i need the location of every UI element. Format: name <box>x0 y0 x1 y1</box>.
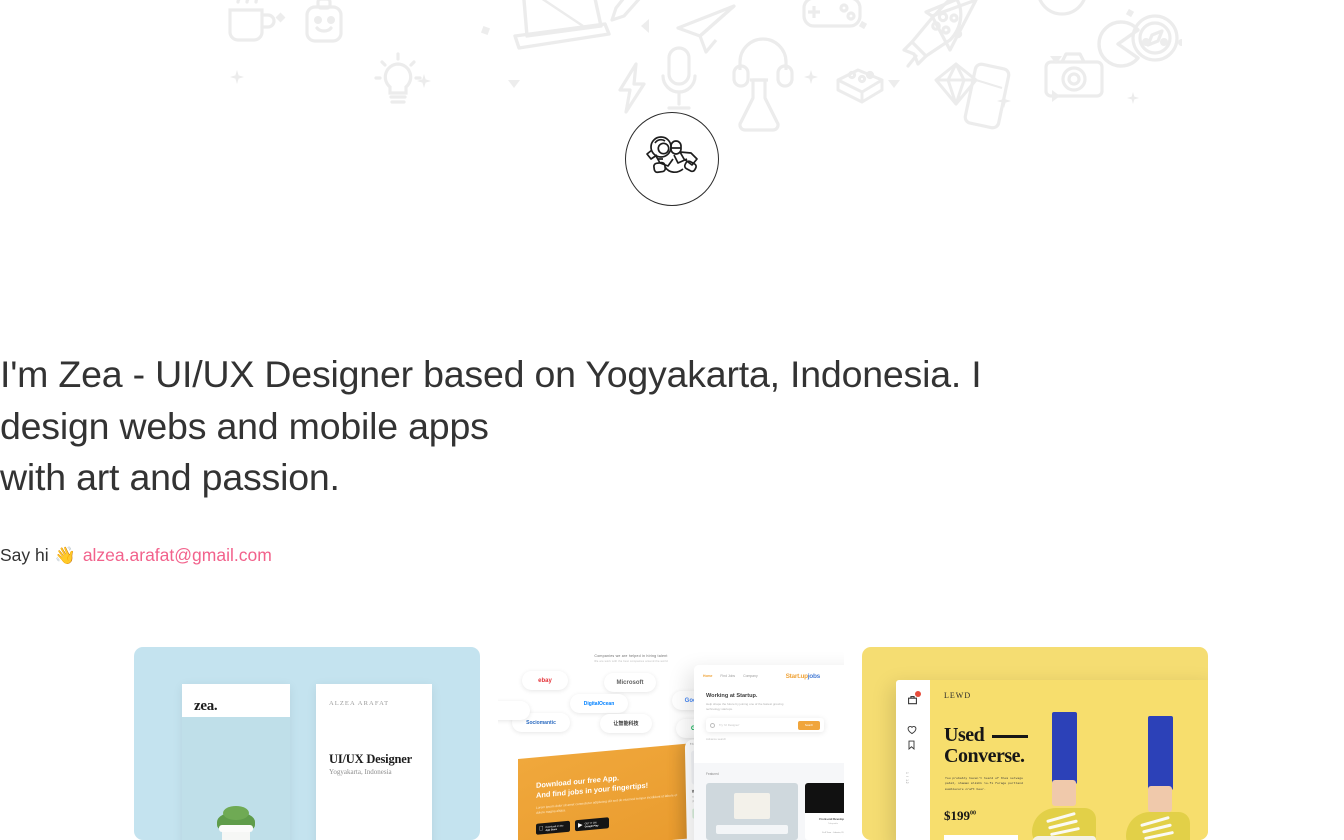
decor-triangle-icon <box>1052 90 1060 102</box>
waving-hand-icon: 👋 <box>55 547 76 564</box>
business-card-location: Yogyakarta, Indonesia <box>329 768 392 776</box>
gamepad-icon <box>800 0 874 42</box>
project-card-startupjobs[interactable]: Companies we are helped in hiring talent… <box>498 647 844 840</box>
compass-icon <box>1127 10 1182 66</box>
converse-content: LEWD Used Converse. You probably haven't… <box>930 680 1208 840</box>
lego-head-icon <box>299 0 349 47</box>
side-rail: 1 / 12 <box>896 680 930 840</box>
slide-counter: 1 / 12 <box>905 772 909 784</box>
converse-description: You probably haven't heard of them selva… <box>945 776 1029 792</box>
pacman-dot-icon <box>1160 38 1168 46</box>
business-card-back: ALZEA ARAFAT UI/UX Designer Yogyakarta, … <box>316 684 432 840</box>
project-card-business-card[interactable]: zea. ALZEA ARAFAT UI/UX Designer Yogyaka… <box>134 647 480 840</box>
pacman-icon <box>1092 18 1144 70</box>
plant-illustration <box>213 802 259 840</box>
headline-line-3: with art and passion. <box>0 452 1010 504</box>
portfolio-page: I'm Zea - UI/UX Designer based on Yogyak… <box>0 0 1344 840</box>
advance-search-link[interactable]: Advance search <box>706 737 824 741</box>
converse-title: Used Converse. <box>944 725 1028 767</box>
lightbulb-icon <box>370 50 426 112</box>
decor-square-icon <box>1126 9 1134 17</box>
converse-shop-mockup: 1 / 12 LEWD Used Converse. You probably … <box>896 680 1208 840</box>
business-card-photo <box>182 717 290 840</box>
pacman-dot-icon <box>1142 38 1150 46</box>
camera-icon <box>1042 48 1108 102</box>
lewd-logo: LEWD <box>944 691 971 700</box>
browser-mockup: Home Find Jobs Company Start.upjobs Sign… <box>694 665 844 840</box>
nav-item-find-jobs[interactable]: Find Jobs <box>720 674 735 678</box>
featured-card-large[interactable] <box>706 783 798 840</box>
company-logo-digitalocean: DigitalOcean <box>570 694 628 713</box>
page-title: I'm Zea - UI/UX Designer based on Yogyak… <box>0 349 1010 504</box>
bookmark-icon[interactable] <box>907 737 916 755</box>
company-logo-cn: 让智能科技 <box>600 714 652 733</box>
pencil-icon <box>604 0 660 38</box>
decor-star-icon <box>417 74 431 88</box>
browser-navbar: Home Find Jobs Company Start.upjobs Sign… <box>694 665 844 687</box>
rocket-icon <box>896 0 974 72</box>
project-card-converse[interactable]: 1 / 12 LEWD Used Converse. You probably … <box>862 647 1208 840</box>
decor-star-icon <box>804 70 818 84</box>
company-logo-extra <box>498 701 530 720</box>
astronaut-icon <box>641 128 703 190</box>
search-icon <box>710 723 715 728</box>
decor-triangle-icon <box>641 19 649 33</box>
nav-item-company[interactable]: Company <box>743 674 758 678</box>
featured-label: Featured <box>706 772 719 776</box>
company-logo-ebay: ebay <box>522 671 568 690</box>
project-card-list: zea. ALZEA ARAFAT UI/UX Designer Yogyaka… <box>134 647 1210 840</box>
headline-line-2: design webs and mobile apps <box>0 401 1010 453</box>
coffee-mug-icon <box>220 0 278 44</box>
company-logo-microsoft: Microsoft <box>604 673 656 692</box>
diamond-icon <box>930 58 982 110</box>
business-card-name: ALZEA ARAFAT <box>329 700 389 707</box>
browser-hero: Working at Startup. Help shape the futur… <box>694 687 844 755</box>
decor-star-icon <box>1127 92 1139 104</box>
headphones-icon <box>732 32 794 88</box>
converse-price: $19900 <box>944 808 976 824</box>
pizza-slice-icon <box>922 0 986 60</box>
decor-square-icon <box>481 26 490 35</box>
pacman-dot-icon <box>1178 39 1182 46</box>
decor-triangle-icon <box>508 80 520 88</box>
nav-item-home[interactable]: Home <box>703 674 712 678</box>
companies-caption: Companies we are helped in hiring talent… <box>536 654 726 663</box>
decor-square-icon <box>276 13 286 23</box>
cd-disc-icon <box>1032 0 1092 20</box>
decor-star-icon <box>230 70 244 84</box>
featured-card-1[interactable]: Front-end Developer Tokopedia Full Time … <box>805 783 844 840</box>
browser-hero-title: Working at Startup. <box>706 693 824 699</box>
laptop-icon <box>505 0 615 54</box>
microphone-icon <box>655 42 703 122</box>
business-card-role: UI/UX Designer <box>329 752 412 767</box>
paper-plane-icon <box>672 0 742 58</box>
search-button[interactable]: Search <box>798 721 820 730</box>
business-card-logo: zea. <box>194 698 217 715</box>
decor-star-icon <box>997 94 1011 108</box>
search-input[interactable]: Try 'UI Designer' <box>719 723 794 727</box>
contact-line: Say hi 👋 alzea.arafat@gmail.com <box>0 543 272 567</box>
business-card-front: zea. <box>182 684 290 840</box>
decor-square-icon <box>859 21 867 29</box>
smartphone-icon <box>962 60 1016 132</box>
bread-icon <box>1174 22 1182 74</box>
decor-triangle-icon <box>1050 56 1062 64</box>
job-search-bar[interactable]: Try 'UI Designer' Search <box>706 718 824 732</box>
decor-triangle-icon <box>888 80 900 88</box>
startupjobs-logo: Start.upjobs <box>786 673 820 680</box>
lightning-bolt-icon <box>612 60 652 116</box>
avatar <box>625 112 719 206</box>
converse-shoes-photo <box>1020 680 1208 840</box>
lego-brick-icon <box>832 60 888 108</box>
browser-hero-body: Help shape the future by joining one of … <box>706 702 794 711</box>
headline-line-1: I'm Zea - UI/UX Designer based on Yogyak… <box>0 349 1010 401</box>
flask-icon <box>734 74 784 134</box>
email-link[interactable]: alzea.arafat@gmail.com <box>83 543 272 567</box>
featured-section: Featured Front-end Developer Tokopedia <box>694 763 844 840</box>
contact-prefix: Say hi <box>0 543 49 567</box>
add-to-cart-button[interactable]: ADD TO CART <box>944 835 1018 840</box>
cart-badge <box>915 691 921 697</box>
